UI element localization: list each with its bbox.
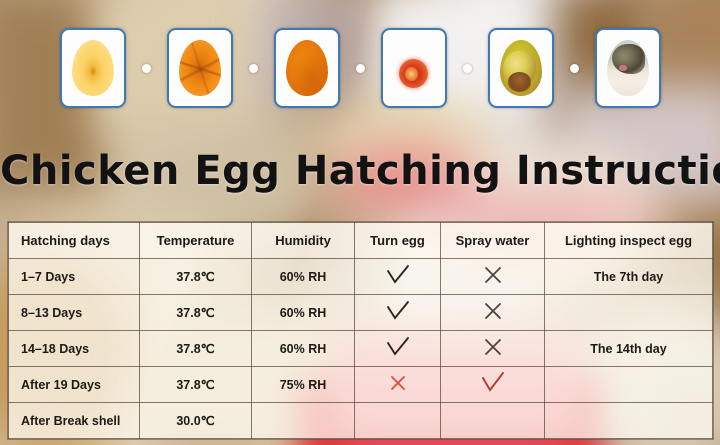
cell-lighting [545, 367, 713, 403]
dot-separator-icon [463, 64, 472, 73]
cell-turn-egg [355, 403, 441, 439]
cell-humidity: 60% RH [252, 331, 355, 367]
cell-lighting [545, 295, 713, 331]
column-header-lighting-inspect-egg: Lighting inspect egg [545, 223, 713, 259]
column-header-humidity: Humidity [252, 223, 355, 259]
cell-humidity [252, 403, 355, 439]
cross-icon [480, 300, 506, 322]
check-icon [385, 264, 411, 286]
column-header-hatching-days: Hatching days [9, 223, 140, 259]
egg-stage-5 [488, 28, 554, 108]
page-title: Chicken Egg Hatching Instruction [0, 148, 720, 194]
cell-temperature: 37.8℃ [140, 367, 252, 403]
table-header-row: Hatching days Temperature Humidity Turn … [9, 223, 713, 259]
table-row: After 19 Days 37.8℃ 75% RH [9, 367, 713, 403]
cross-icon [480, 264, 506, 286]
egg-stage-1 [60, 28, 126, 108]
hatching-instruction-table: Hatching days Temperature Humidity Turn … [8, 222, 713, 439]
egg-stage-2-image [179, 40, 221, 96]
cell-lighting: The 7th day [545, 259, 713, 295]
table-row: 1–7 Days 37.8℃ 60% RH The 7th day [9, 259, 713, 295]
dot-separator-icon [249, 64, 258, 73]
egg-stage-1-image [72, 40, 114, 96]
cell-humidity: 75% RH [252, 367, 355, 403]
cross-icon [480, 336, 506, 358]
cell-turn-egg [355, 295, 441, 331]
cross-icon [385, 372, 411, 394]
column-header-spray-water: Spray water [441, 223, 545, 259]
cell-humidity: 60% RH [252, 259, 355, 295]
dot-separator-icon [570, 64, 579, 73]
cell-spray-water [441, 259, 545, 295]
cell-spray-water [441, 367, 545, 403]
egg-stage-4-image [393, 40, 435, 96]
table-row: 14–18 Days 37.8℃ 60% RH The 14th day [9, 331, 713, 367]
cell-spray-water [441, 403, 545, 439]
cell-spray-water [441, 295, 545, 331]
cell-temperature: 37.8℃ [140, 295, 252, 331]
egg-stage-5-image [500, 40, 542, 96]
egg-stage-2 [167, 28, 233, 108]
column-header-turn-egg: Turn egg [355, 223, 441, 259]
egg-stage-strip [0, 26, 720, 110]
cell-days: After 19 Days [9, 367, 140, 403]
cell-days: After Break shell [9, 403, 140, 439]
poster-root: Chicken Egg Hatching Instruction Hatchin… [0, 0, 720, 445]
dot-separator-icon [142, 64, 151, 73]
column-header-temperature: Temperature [140, 223, 252, 259]
egg-stage-6-image [607, 40, 649, 96]
egg-stage-3 [274, 28, 340, 108]
egg-stage-6 [595, 28, 661, 108]
check-icon [480, 372, 506, 394]
dot-separator-icon [356, 64, 365, 73]
check-icon [385, 336, 411, 358]
cell-days: 14–18 Days [9, 331, 140, 367]
cell-turn-egg [355, 259, 441, 295]
cell-temperature: 30.0℃ [140, 403, 252, 439]
table-row: After Break shell 30.0℃ [9, 403, 713, 439]
check-icon [385, 300, 411, 322]
cell-lighting [545, 403, 713, 439]
cell-days: 8–13 Days [9, 295, 140, 331]
egg-stage-3-image [286, 40, 328, 96]
cell-turn-egg [355, 331, 441, 367]
cell-spray-water [441, 331, 545, 367]
cell-lighting: The 14th day [545, 331, 713, 367]
cell-temperature: 37.8℃ [140, 259, 252, 295]
cell-days: 1–7 Days [9, 259, 140, 295]
egg-stage-4 [381, 28, 447, 108]
cell-temperature: 37.8℃ [140, 331, 252, 367]
cell-humidity: 60% RH [252, 295, 355, 331]
cell-turn-egg [355, 367, 441, 403]
table-row: 8–13 Days 37.8℃ 60% RH [9, 295, 713, 331]
